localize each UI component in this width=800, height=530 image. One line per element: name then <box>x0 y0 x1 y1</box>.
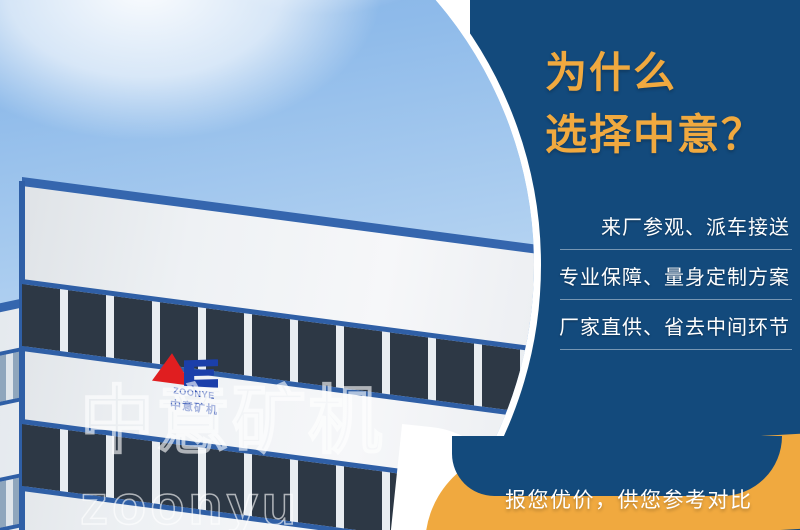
headline-line-1: 为什么 <box>545 49 677 96</box>
benefits-list: 来厂参观、派车接送 专业保障、量身定制方案 厂家直供、省去中间环节 <box>528 200 796 350</box>
page-title: 为什么 选择中意？ <box>545 42 795 166</box>
zoonye-logo: ZOONYE 中意矿机 <box>150 348 236 425</box>
benefit-text: 厂家直供、省去中间环节 <box>559 311 796 340</box>
list-divider <box>560 349 792 350</box>
list-item: 专业保障、量身定制方案 <box>528 250 796 300</box>
headline-line-2: 选择中意？ <box>545 104 795 166</box>
benefit-text: 来厂参观、派车接送 <box>601 211 796 240</box>
benefit-text: 专业保障、量身定制方案 <box>559 261 796 290</box>
promo-banner: ZOONYE 中意矿机 中意矿机zoonyu 为什么 选择中意？ 来厂参观、 <box>0 0 800 530</box>
list-item: 来厂参观、派车接送 <box>528 200 796 250</box>
list-item: 厂家直供、省去中间环节 <box>528 300 796 350</box>
footer-banner-text: 报您优价，供您参考对比 <box>505 484 800 514</box>
